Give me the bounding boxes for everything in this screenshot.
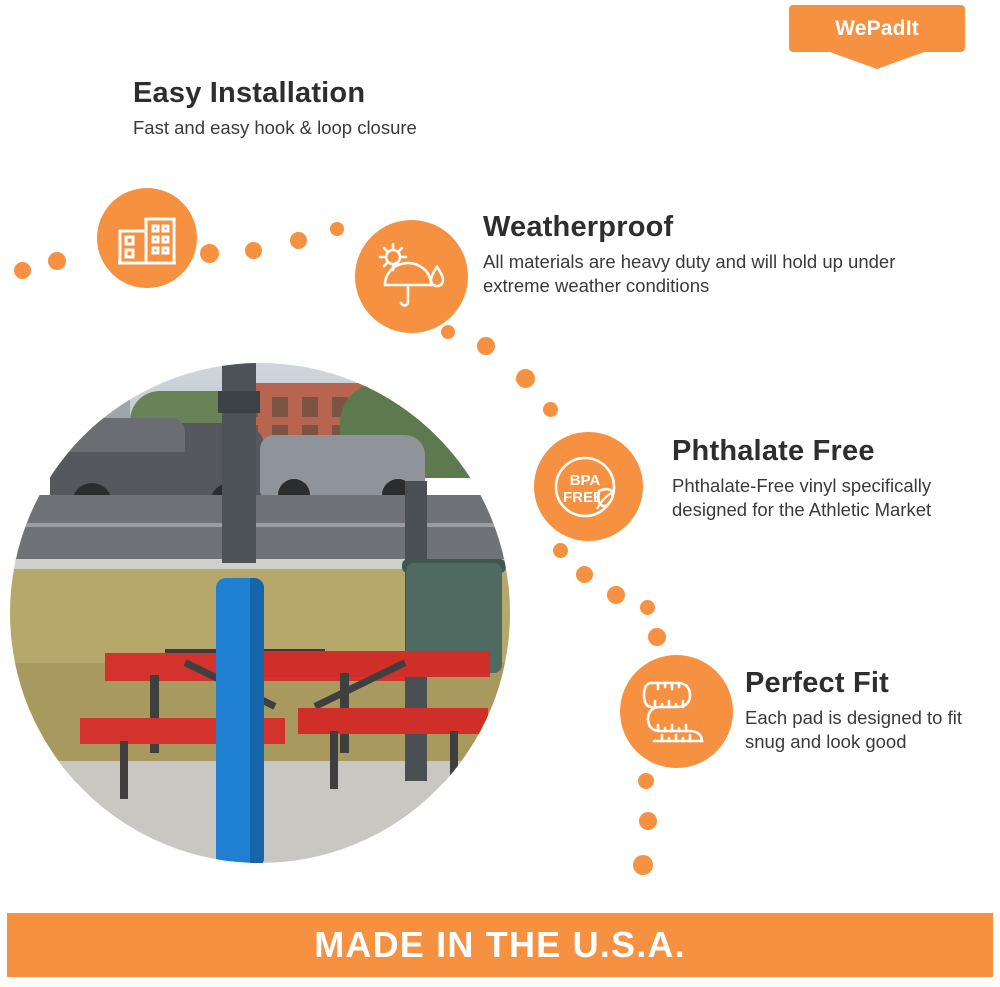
building-icon <box>97 188 197 288</box>
infographic-root: WePadIt Easy Installation Fast and easy … <box>0 0 1000 987</box>
feature-title: Weatherproof <box>483 212 913 244</box>
banner-text: MADE IN THE U.S.A. <box>314 924 686 966</box>
logo-badge: WePadIt <box>789 5 965 52</box>
feature-easy-installation: Easy Installation Fast and easy hook & l… <box>133 78 563 140</box>
logo-text: WePadIt <box>835 17 919 41</box>
feature-phthalate-free: Phthalate Free Phthalate-Free vinyl spec… <box>672 436 972 523</box>
brand-logo: WePadIt <box>789 5 965 67</box>
bpa-label-line1: BPA <box>569 472 600 489</box>
umbrella-sun-rain-icon <box>355 220 468 333</box>
feature-body: All materials are heavy duty and will ho… <box>483 250 913 299</box>
tape-measure-icon <box>620 655 733 768</box>
made-in-usa-banner: MADE IN THE U.S.A. <box>7 913 993 977</box>
feature-weatherproof: Weatherproof All materials are heavy dut… <box>483 212 913 299</box>
product-photo <box>10 363 510 863</box>
feature-title: Perfect Fit <box>745 668 985 700</box>
feature-title: Easy Installation <box>133 78 563 110</box>
feature-body: Phthalate-Free vinyl specifically design… <box>672 474 972 523</box>
feature-title: Phthalate Free <box>672 436 972 468</box>
logo-banner-tail <box>827 51 927 69</box>
feature-body: Fast and easy hook & loop closure <box>133 116 563 141</box>
bpa-free-icon: BPA FREE <box>534 432 643 541</box>
feature-perfect-fit: Perfect Fit Each pad is designed to fit … <box>745 668 985 755</box>
feature-body: Each pad is designed to fit snug and loo… <box>745 706 985 755</box>
